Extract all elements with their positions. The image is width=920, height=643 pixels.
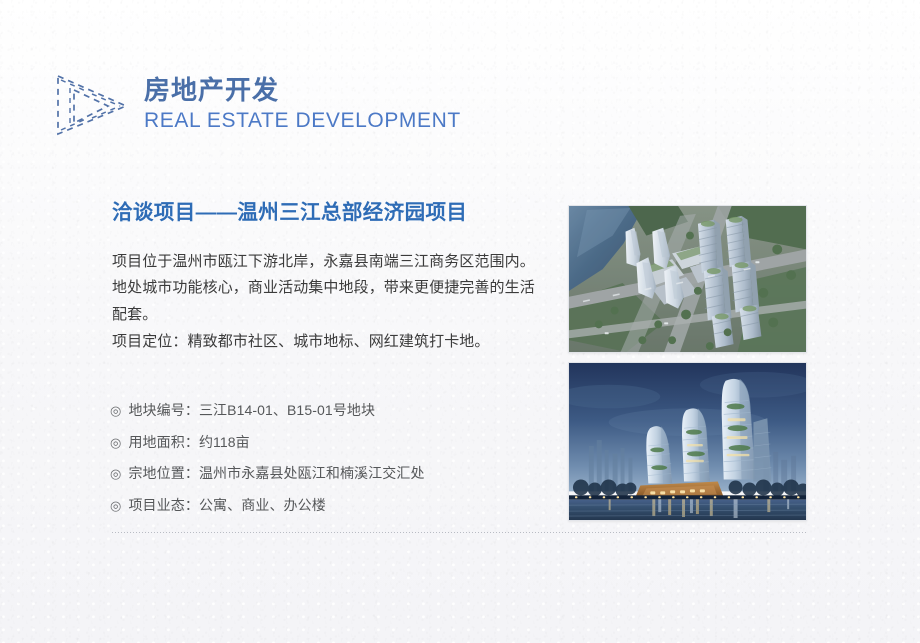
description-paragraph-1: 项目位于温州市瓯江下游北岸，永嘉县南端三江商务区范围内。地处城市功能核心，商业活… (112, 249, 542, 329)
page-header: 房地产开发 REAL ESTATE DEVELOPMENT (48, 68, 461, 142)
aerial-daytime-rendering (568, 205, 807, 353)
list-item: ◎ 宗地位置：温州市永嘉县处瓯江和楠溪江交汇处 (110, 463, 550, 485)
description-paragraph-2: 项目定位：精致都市社区、城市地标、网红建筑打卡地。 (112, 329, 542, 356)
list-item: ◎ 地块编号：三江B14-01、B15-01号地块 (110, 400, 550, 422)
header-title-en: REAL ESTATE DEVELOPMENT (144, 108, 461, 134)
circle-bullet-icon: ◎ (110, 496, 121, 516)
project-spec-list: ◎ 地块编号：三江B14-01、B15-01号地块 ◎ 用地面积：约118亩 ◎… (110, 400, 550, 527)
spec-land-area: 用地面积：约118亩 (128, 432, 249, 454)
circle-bullet-icon: ◎ (110, 401, 121, 421)
dotted-divider (112, 532, 808, 533)
spec-property-type: 项目业态：公寓、商业、办公楼 (128, 495, 325, 517)
circle-bullet-icon: ◎ (110, 464, 121, 484)
list-item: ◎ 用地面积：约118亩 (110, 432, 550, 454)
spec-location: 宗地位置：温州市永嘉县处瓯江和楠溪江交汇处 (128, 463, 424, 485)
header-text-block: 房地产开发 REAL ESTATE DEVELOPMENT (144, 76, 461, 134)
header-title-cn: 房地产开发 (144, 76, 461, 105)
spec-plot-number: 地块编号：三江B14-01、B15-01号地块 (128, 400, 375, 422)
page-title: 洽谈项目——温州三江总部经济园项目 (112, 200, 542, 227)
project-description: 项目位于温州市瓯江下游北岸，永嘉县南端三江商务区范围内。地处城市功能核心，商业活… (112, 249, 542, 356)
dashed-triangle-play-icon (48, 68, 136, 142)
main-content: 洽谈项目——温州三江总部经济园项目 项目位于温州市瓯江下游北岸，永嘉县南端三江商… (112, 200, 542, 355)
night-waterfront-rendering (568, 362, 807, 521)
list-item: ◎ 项目业态：公寓、商业、办公楼 (110, 495, 550, 517)
circle-bullet-icon: ◎ (110, 433, 121, 453)
